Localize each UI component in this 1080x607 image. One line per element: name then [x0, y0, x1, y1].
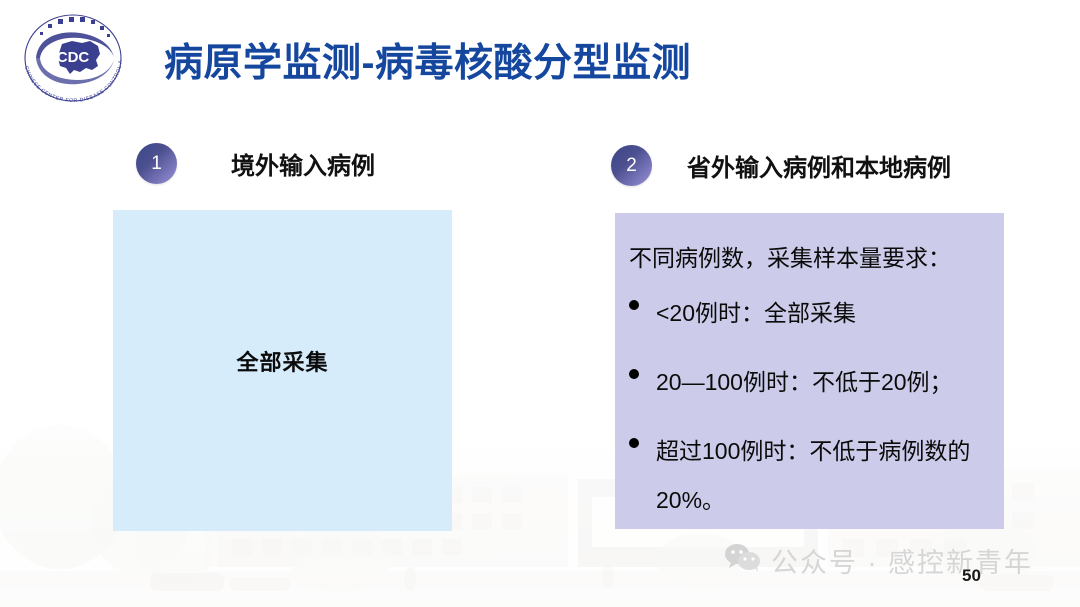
wechat-icon — [724, 543, 762, 578]
requirement-list: <20例时：全部采集 20—100例时：不低于20例； 超过100例时：不低于病… — [629, 289, 996, 545]
watermark-text: 公众号 · 感控新青年 — [771, 541, 1033, 580]
section-badge-2: 2 — [611, 145, 652, 186]
section-heading-2: 2 省外输入病例和本地病例 — [611, 145, 951, 186]
purple-panel: 不同病例数，采集样本量要求： <20例时：全部采集 20—100例时：不低于20… — [615, 213, 1004, 529]
section-heading-1: 1 境外输入病例 — [136, 143, 375, 184]
blue-panel: 全部采集 — [113, 210, 452, 531]
blue-panel-text: 全部采集 — [236, 345, 328, 377]
slide: CDC CHINESE CENTER FOR DISEASE CONTROL A… — [0, 0, 1080, 607]
page-title: 病原学监测-病毒核酸分型监测 — [164, 32, 691, 88]
slide-header: CDC CHINESE CENTER FOR DISEASE CONTROL A… — [0, 0, 1080, 112]
list-item-text: <20例时：全部采集 — [656, 289, 856, 338]
bullet-dot-icon — [629, 438, 639, 448]
list-item-text: 20—100例时：不低于20例； — [656, 358, 953, 407]
list-item-text: 超过100例时：不低于病例数的20%。 — [656, 427, 996, 525]
section-badge-1: 1 — [136, 143, 177, 184]
bullet-dot-icon — [629, 300, 639, 310]
section-label-2: 省外输入病例和本地病例 — [687, 148, 951, 183]
list-item: <20例时：全部采集 — [629, 289, 996, 338]
page-number: 50 — [962, 566, 981, 586]
list-item: 20—100例时：不低于20例； — [629, 358, 996, 407]
section-label-1: 境外输入病例 — [231, 146, 375, 181]
svg-text:CDC: CDC — [57, 49, 90, 66]
watermark: 公众号 · 感控新青年 — [724, 541, 1033, 580]
list-item: 超过100例时：不低于病例数的20%。 — [629, 427, 996, 525]
china-cdc-logo-icon: CDC CHINESE CENTER FOR DISEASE CONTROL A… — [14, 10, 132, 106]
purple-panel-intro: 不同病例数，采集样本量要求： — [629, 239, 951, 273]
bullet-dot-icon — [629, 369, 639, 379]
